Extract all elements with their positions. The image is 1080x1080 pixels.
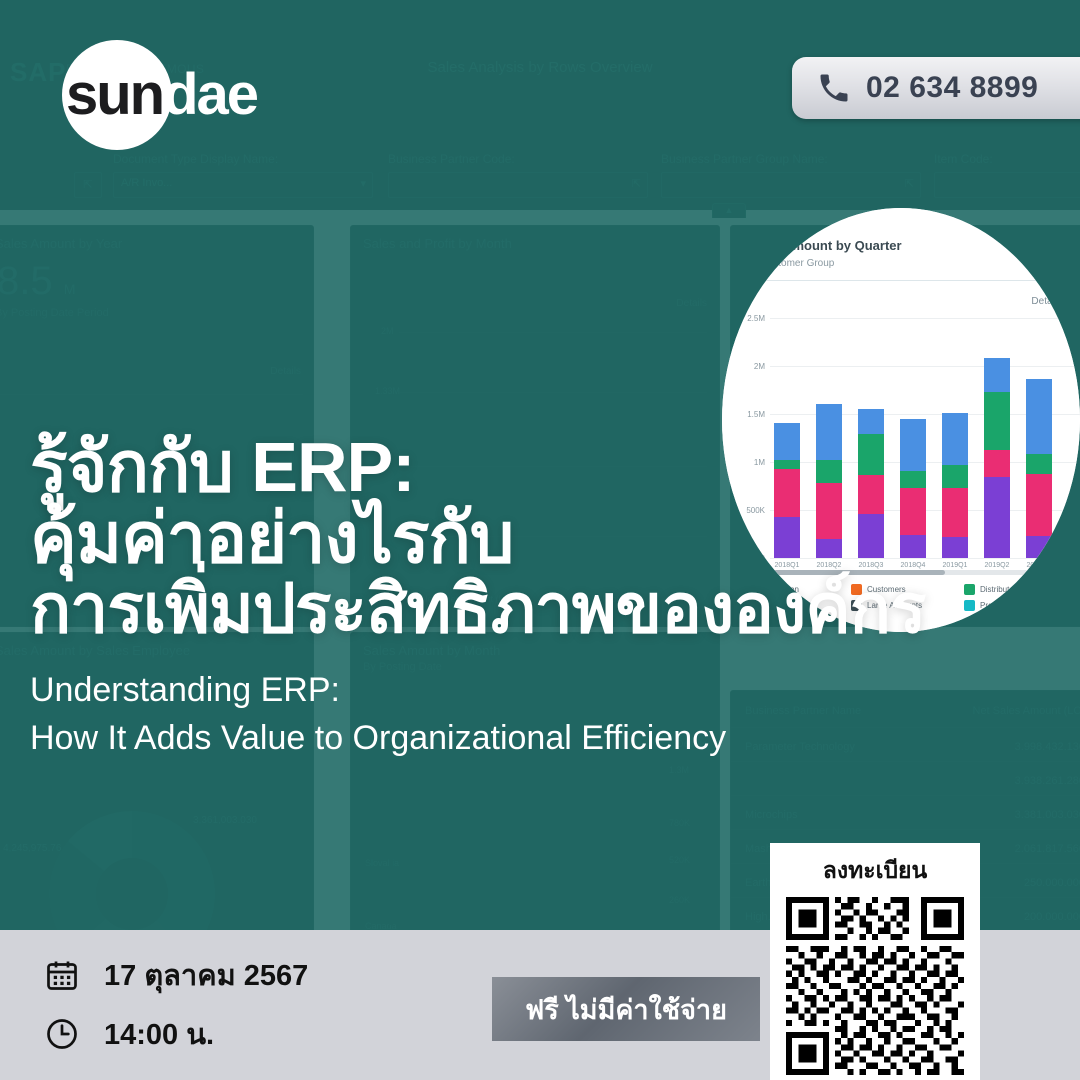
free-admission-button[interactable]: ฟรี ไม่มีค่าใช้จ่าย <box>492 977 760 1041</box>
phone-badge[interactable]: 02 634 8899 <box>792 57 1080 119</box>
logo-text-dae: dae <box>163 62 257 127</box>
phone-icon <box>816 70 852 106</box>
event-date: 17 ตุลาคม 2567 <box>104 952 308 998</box>
logo-text-sun: sun <box>66 62 163 127</box>
headline-line-2: คุ้มค่าอย่างไรกับ <box>30 503 1080 574</box>
qr-label: ลงทะเบียน <box>770 843 980 889</box>
event-date-row: 17 ตุลาคม 2567 <box>42 952 308 998</box>
event-poster: Sales Amount by Year 8.5 M By Posting Da… <box>0 0 1080 1080</box>
y-tick-label: 1.5M <box>747 410 765 419</box>
headline-block: รู้จักกับ ERP: คุ้มค่าอย่างไรกับ การเพิ่… <box>30 432 1080 762</box>
clock-icon <box>42 1016 82 1052</box>
y-tick-label: 2.5M <box>747 314 765 323</box>
headline-line-3: การเพิ่มประสิทธิภาพขององค์กร <box>30 575 1080 644</box>
subtitle-line-2: How It Adds Value to Organizational Effi… <box>30 716 1080 762</box>
subtitle-line-1: Understanding ERP: <box>30 668 1080 714</box>
event-time: 14:00 น. <box>104 1011 214 1057</box>
headline-line-1: รู้จักกับ ERP: <box>30 432 1080 503</box>
brand-logo: sundae <box>66 66 257 124</box>
cta-label: ฟรี ไม่มีค่าใช้จ่าย <box>525 988 727 1031</box>
chart-details-link[interactable]: Details <box>1031 296 1062 307</box>
phone-number: 02 634 8899 <box>866 71 1038 105</box>
divider <box>730 280 1080 281</box>
y-tick-label: 2M <box>754 362 765 371</box>
chart-subtitle: By Customer Group <box>746 258 834 269</box>
event-time-row: 14:00 น. <box>42 1011 214 1057</box>
chart-title: Sales Amount by Quarter <box>746 238 902 253</box>
qr-code-image[interactable] <box>786 897 964 1075</box>
registration-qr-card[interactable]: ลงทะเบียน <box>770 843 980 1080</box>
calendar-icon <box>42 957 82 993</box>
